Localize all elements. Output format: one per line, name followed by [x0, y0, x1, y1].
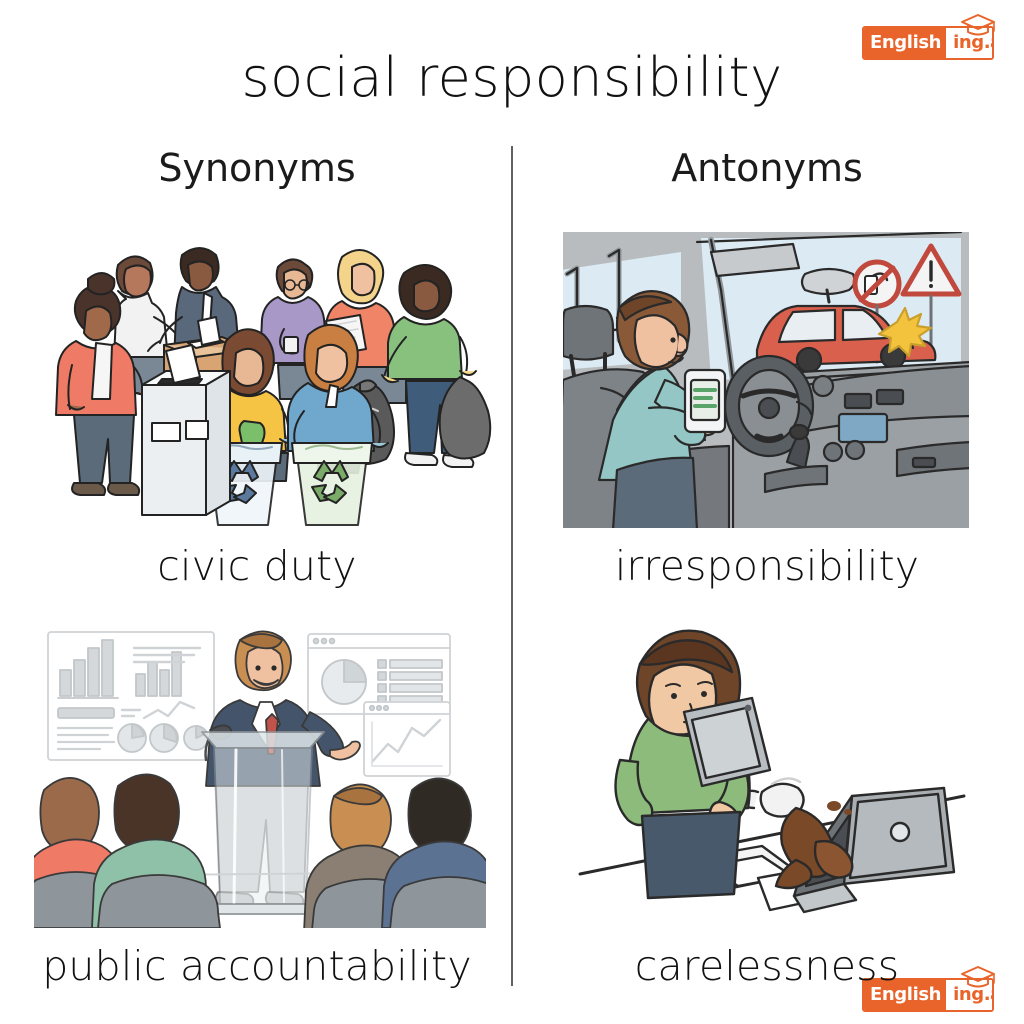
label-civic-duty: civic duty [22, 542, 492, 590]
logo-left-text: English [864, 28, 946, 58]
flashcard-page: social responsibility English ing.app En… [0, 0, 1024, 1024]
illustration-irresponsibility [561, 230, 971, 530]
label-irresponsibility: irresponsibility [532, 542, 1002, 590]
synonyms-heading: Synonyms [22, 146, 492, 190]
illustration-public-accountability [34, 618, 486, 928]
label-carelessness: carelessness [532, 942, 1002, 990]
antonyms-heading: Antonyms [532, 146, 1002, 190]
column-divider [511, 146, 513, 986]
brand-logo-top[interactable]: English ing.app [862, 26, 994, 60]
label-public-accountability: public accountability [22, 942, 492, 990]
illustration-carelessness [566, 620, 974, 928]
graduation-cap-icon [958, 12, 998, 38]
illustration-civic-duty [30, 225, 492, 530]
